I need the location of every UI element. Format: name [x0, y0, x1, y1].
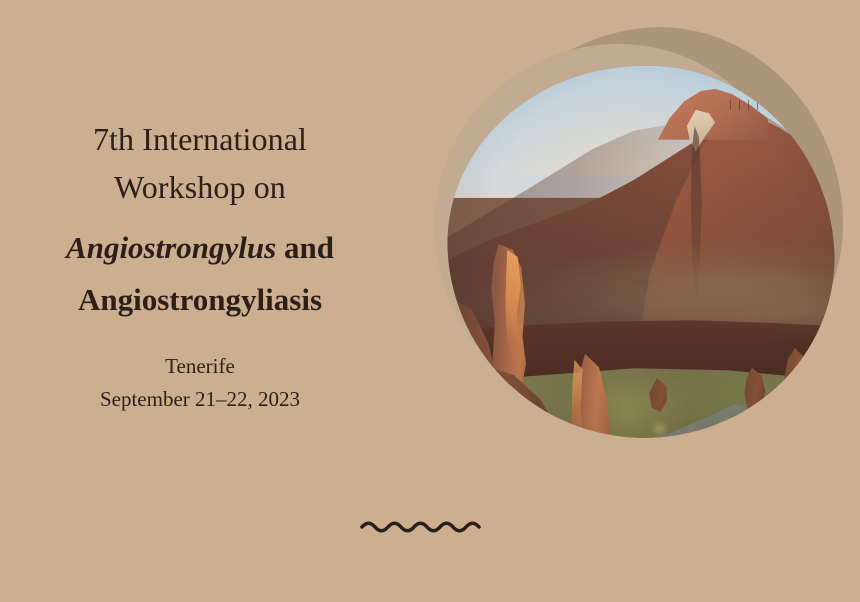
subject-line-2: Angiostrongyliasis — [0, 274, 400, 326]
hero-image-cluster — [420, 18, 860, 458]
hero-photo-teide — [439, 56, 844, 448]
photo-summit-ridge-specks — [730, 100, 802, 110]
hero-photo-frame — [439, 56, 844, 448]
wave-path — [362, 523, 479, 531]
poster-text-column: 7th International Workshop on Angiostron… — [0, 0, 400, 602]
event-dates: September 21–22, 2023 — [0, 383, 400, 416]
conference-poster: 7th International Workshop on Angiostron… — [0, 0, 860, 602]
event-subject: Angiostrongylus and Angiostrongyliasis — [0, 222, 400, 326]
subject-conjunction: and — [276, 230, 334, 265]
event-details: Tenerife September 21–22, 2023 — [0, 350, 400, 416]
title-line-2: Workshop on — [0, 163, 400, 211]
genus-name: Angiostrongylus — [66, 230, 276, 265]
event-location: Tenerife — [0, 350, 400, 383]
wavy-divider-icon — [358, 510, 488, 544]
subject-line-1: Angiostrongylus and — [0, 222, 400, 274]
title-line-1: 7th International — [0, 115, 400, 163]
event-title: 7th International Workshop on — [0, 115, 400, 211]
